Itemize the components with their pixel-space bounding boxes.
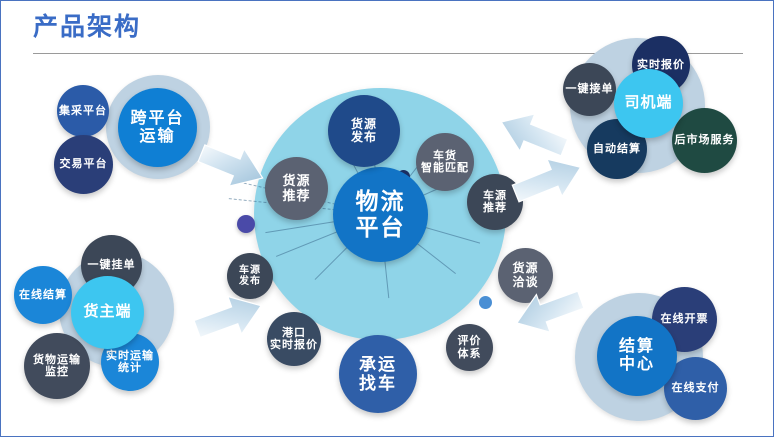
bubble-label: 一键接单	[566, 83, 614, 95]
bubble-label: 货源 推荐	[282, 174, 310, 203]
hub-settlement-center[interactable]: 结算 中心	[597, 316, 677, 396]
bubble-label: 在线开票	[661, 313, 709, 325]
bubble-cargo-transport-monitor[interactable]: 货物运输 监控	[24, 333, 90, 399]
product-architecture-diagram: 物流 平台 货源 发布 车货 智能匹配 车源 推荐 货源 洽谈 评价 体系 承运…	[1, 57, 773, 436]
bubble-procurement-platform[interactable]: 集采平台	[57, 85, 109, 137]
arrow-from-center-to-driver	[511, 155, 587, 205]
page-title: 产品架构	[33, 15, 141, 40]
bubble-label: 在线支付	[672, 382, 720, 394]
bubble-port-realtime-price[interactable]: 港口 实时报价	[267, 312, 321, 366]
bubble-one-click-order[interactable]: 一键接单	[563, 63, 616, 116]
bubble-label: 后市场服务	[675, 134, 735, 146]
arrow-from-shipper-to-center	[193, 290, 267, 344]
bubble-cargo-publish[interactable]: 货源 发布	[328, 95, 400, 167]
bubble-rating-system[interactable]: 评价 体系	[446, 324, 493, 371]
hub-label: 跨平台 运输	[130, 110, 184, 146]
bubble-label: 车源 发布	[239, 265, 261, 287]
bubble-label: 集采平台	[59, 105, 107, 117]
bubble-online-settlement[interactable]: 在线结算	[14, 266, 72, 324]
arrow-from-driver-to-center	[493, 107, 569, 161]
bubble-carrier-find-vehicle[interactable]: 承运 找车	[339, 335, 417, 413]
hub-driver-terminal[interactable]: 司机端	[614, 69, 683, 138]
bubble-smart-match[interactable]: 车货 智能匹配	[416, 133, 474, 191]
bubble-label: 一键挂单	[88, 259, 136, 271]
center-hub-label: 物流 平台	[356, 189, 406, 241]
arrow-from-settlement-to-center	[509, 285, 585, 339]
hub-label: 结算 中心	[619, 338, 655, 374]
bubble-cargo-recommend[interactable]: 货源 推荐	[265, 157, 328, 220]
bubble-label: 交易平台	[60, 158, 108, 170]
center-hub-logistics-platform[interactable]: 物流 平台	[333, 167, 428, 262]
bubble-trading-platform[interactable]: 交易平台	[54, 135, 113, 194]
blue-dot-marker	[479, 296, 492, 309]
bubble-label: 货源 发布	[351, 118, 377, 145]
hub-label: 货主端	[83, 304, 131, 321]
bubble-label: 车源 推荐	[483, 190, 507, 215]
bubble-label: 自动结算	[593, 143, 641, 155]
slide-canvas: 产品架构 物流 平台 货源 发布 车货 智能匹配	[0, 0, 774, 437]
arrow-from-cross-platform-to-center	[197, 139, 269, 193]
bubble-aftermarket-service[interactable]: 后市场服务	[672, 108, 737, 173]
bubble-label: 在线结算	[19, 289, 67, 301]
hub-cross-platform-transport[interactable]: 跨平台 运输	[118, 88, 197, 167]
hub-shipper-terminal[interactable]: 货主端	[71, 276, 144, 349]
hub-label: 司机端	[624, 95, 672, 112]
bubble-label: 车货 智能匹配	[421, 150, 469, 175]
bubble-label: 货物运输 监控	[33, 354, 81, 379]
bubble-label: 承运 找车	[359, 355, 397, 393]
bubble-label: 评价 体系	[458, 335, 482, 360]
purple-dot-marker	[237, 215, 255, 233]
bubble-label: 实时运输 统计	[106, 350, 154, 375]
bubble-label: 港口 实时报价	[270, 327, 318, 352]
